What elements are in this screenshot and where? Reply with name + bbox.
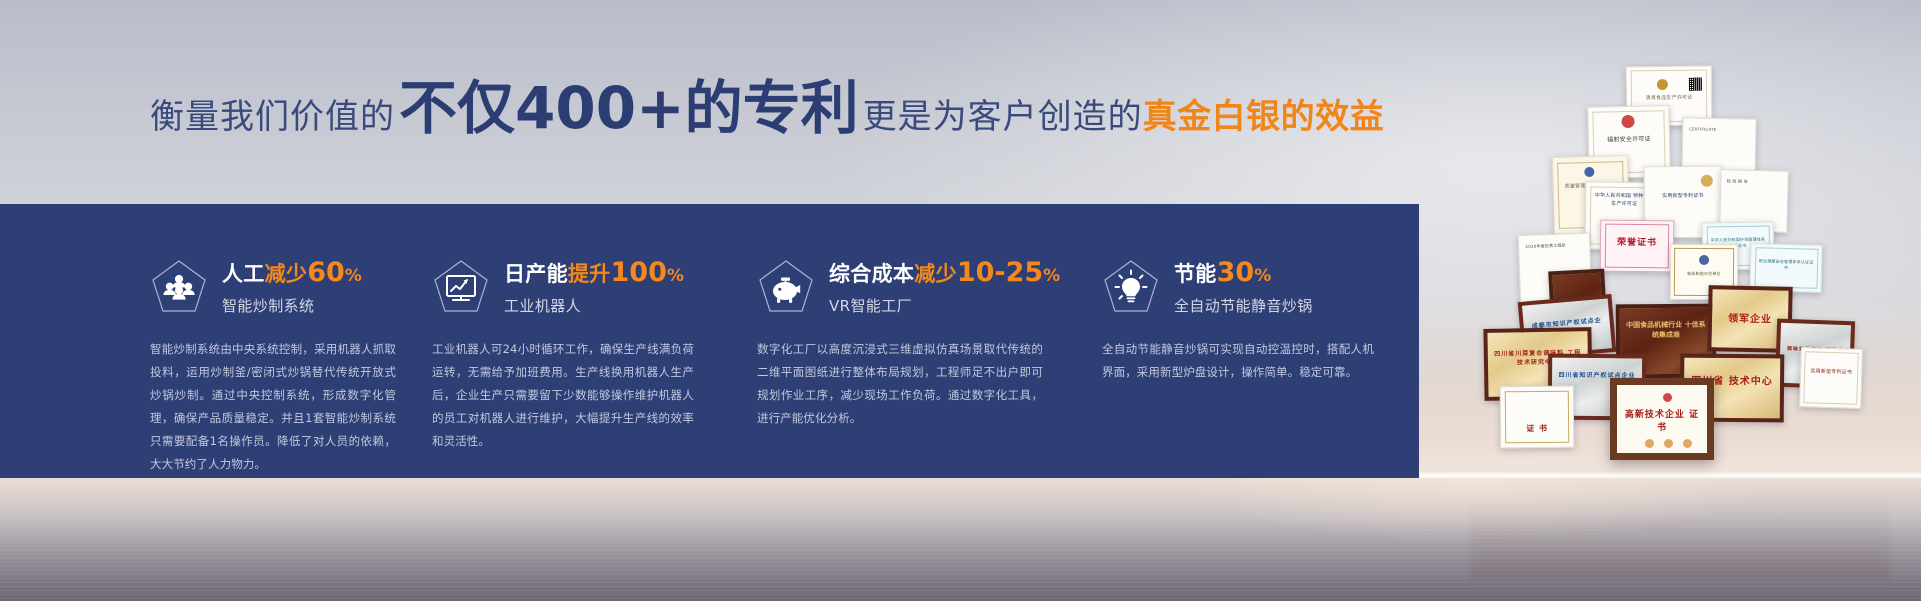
features-panel: 人工减少60% 智能炒制系统 智能炒制系统由中央系统控制，采用机器人抓取投料，运… <box>0 204 1419 478</box>
certificate-label: CERTIFICATE <box>1689 126 1748 133</box>
certificate-item: 证 书 <box>1500 386 1575 449</box>
feature-subtitle: 工业机器人 <box>504 295 684 316</box>
feature-title-plain: 综合成本 <box>829 262 914 286</box>
headline-lead: 衡量我们价值的 <box>150 89 395 138</box>
certificate-label: 领军企业 <box>1716 309 1783 325</box>
feature-value: 100 <box>611 257 667 288</box>
feature-subtitle: VR智能工厂 <box>829 295 1061 316</box>
feature-description: 全自动节能静音炒锅可实现自动控温控时，搭配人机界面，采用新型炉盘设计，操作简单。… <box>1102 338 1374 384</box>
feature-title: 日产能提升100% <box>504 258 684 288</box>
feature-description: 数字化工厂以高度沉浸式三维虚拟仿真场景取代传统的二维平面图纸进行整体布局规划，工… <box>757 338 1043 430</box>
certificate-label: 荣誉证书 <box>1605 235 1669 249</box>
feature-title-plain: 人工 <box>222 262 265 286</box>
certificate-label: 辐射安全许可证 <box>1597 134 1661 144</box>
certificate-label: 清真食品生产许可证 <box>1635 95 1702 103</box>
certificate-label: 实用新型专利证书 <box>1653 193 1714 201</box>
feature-subtitle: 智能炒制系统 <box>222 295 362 316</box>
certificate-wall: 清真食品生产许可证 辐射安全许可证 CERTIFICATE 质量管理体系认证证书… <box>1398 48 1921 493</box>
feature-title: 节能30% <box>1174 258 1313 288</box>
feature-subtitle: 全自动节能静音炒锅 <box>1174 295 1313 316</box>
feature-description: 智能炒制系统由中央系统控制，采用机器人抓取投料，运用炒制釜/密闭式炒锅替代传统开… <box>150 338 396 476</box>
feature-unit: % <box>667 266 684 286</box>
feature-title: 综合成本减少10-25% <box>829 258 1061 288</box>
floor-reflection <box>1470 470 1890 580</box>
certificate-label: 检 验 报 告 <box>1727 178 1781 185</box>
feature-description: 工业机器人可24小时循环工作，确保生产线满负荷运转，无需给予加班费用。生产线换用… <box>432 338 694 453</box>
feature-item-cost: 综合成本减少10-25% VR智能工厂 数字化工厂以高度沉浸式三维虚拟仿真场景取… <box>725 204 1070 478</box>
feature-value: 10-25 <box>957 257 1043 288</box>
certificate-label: 证 书 <box>1505 423 1568 435</box>
certificate-label: 2020年度优秀工程奖 <box>1525 242 1582 250</box>
feature-unit: % <box>1043 266 1060 286</box>
feature-item-energy: 节能30% 全自动节能静音炒锅 全自动节能静音炒锅可实现自动控温控时，搭配人机界… <box>1070 204 1419 478</box>
people-group-icon <box>150 258 208 316</box>
feature-title-plain: 日产能 <box>504 262 568 286</box>
certificate-label: 实用新型专利证书 <box>1807 368 1855 377</box>
banner-stage: 衡量我们价值的 不仅400+的专利 更是为客户创造的 真金白银的效益 <box>0 0 1921 601</box>
certificate-item: 实用新型专利证书 <box>1799 347 1863 409</box>
lightbulb-icon <box>1102 258 1160 316</box>
feature-unit: % <box>345 266 362 286</box>
certificate-item: 荣誉证书 <box>1600 220 1675 273</box>
feature-value: 30 <box>1217 257 1255 288</box>
feature-title-accent: 减少 <box>914 262 957 286</box>
feature-value: 60 <box>307 257 345 288</box>
feature-unit: % <box>1254 266 1271 286</box>
headline-middle: 更是为客户创造的 <box>863 89 1143 138</box>
feature-title-accent: 提升 <box>568 262 611 286</box>
headline-emphasis: 不仅400+的专利 <box>399 79 859 137</box>
feature-title: 人工减少60% <box>222 258 362 288</box>
certificate-item: 高新技术企业 证书 <box>1610 378 1714 460</box>
feature-item-capacity: 日产能提升100% 工业机器人 工业机器人可24小时循环工作，确保生产线满负荷运… <box>400 204 725 478</box>
feature-title-plain: 节能 <box>1174 262 1217 286</box>
piggy-bank-icon <box>757 258 815 316</box>
certificate-label: 智能制造示范单位 <box>1678 271 1731 277</box>
feature-title-accent: 减少 <box>265 262 308 286</box>
page-title: 衡量我们价值的 不仅400+的专利 更是为客户创造的 真金白银的效益 <box>150 79 1384 143</box>
chart-board-icon <box>432 258 490 316</box>
certificate-label: 中国食品机械行业 十佳系统集成商 <box>1625 320 1706 341</box>
feature-item-labor: 人工减少60% 智能炒制系统 智能炒制系统由中央系统控制，采用机器人抓取投料，运… <box>0 204 400 478</box>
certificate-label: 职业健康安全管理体系认证证书 <box>1758 258 1814 271</box>
headline-accent: 真金白银的效益 <box>1143 89 1385 138</box>
